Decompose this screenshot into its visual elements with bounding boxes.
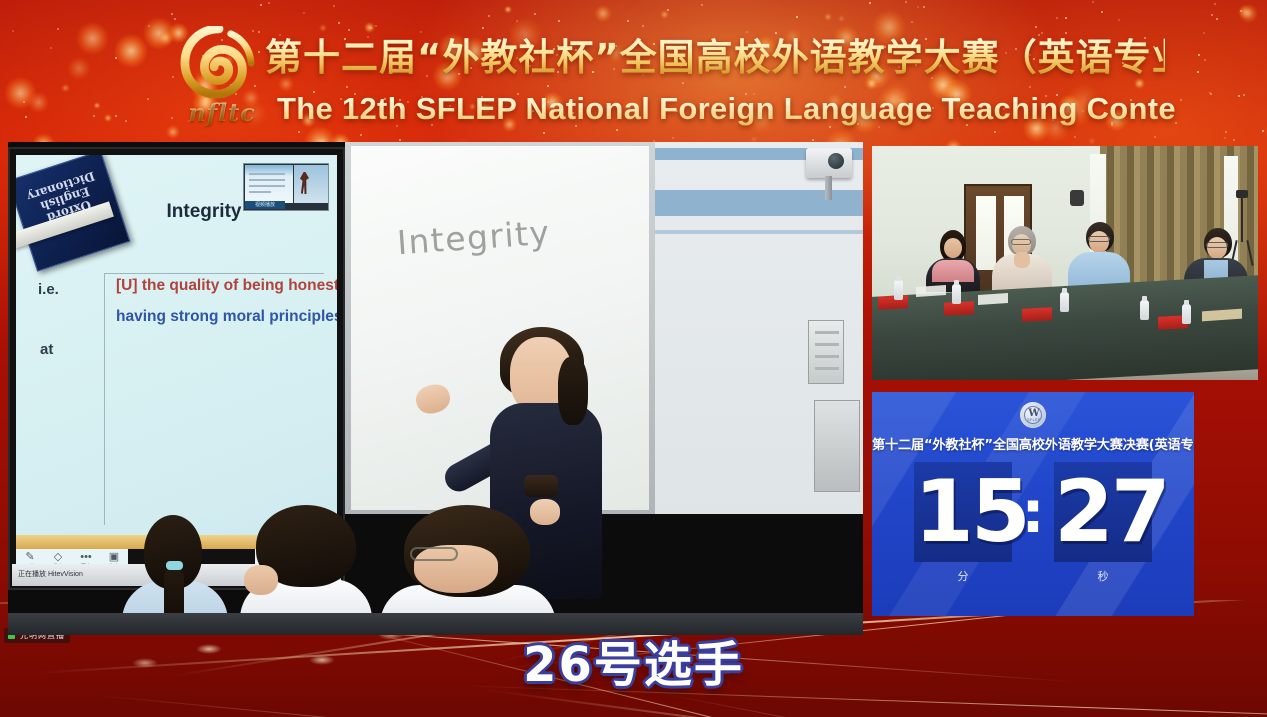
- name-card-1: [878, 295, 908, 310]
- slide-divider-vertical: [104, 273, 105, 525]
- slide-divider-horizontal: [104, 273, 324, 274]
- timer-title: 第十二届“外教社杯”全国高校外语教学大赛决赛(英语专业组）: [872, 434, 1194, 453]
- water-bottle-3: [1060, 292, 1069, 312]
- ceiling-projector-icon: [770, 148, 856, 194]
- desk-surface: [8, 613, 863, 635]
- swirl-spiral-logo-icon: [180, 26, 258, 100]
- whiteboard-handwriting: Integrity: [396, 213, 552, 263]
- podium-computer: [814, 400, 860, 492]
- thumbnail-label: 视频播放: [245, 201, 285, 209]
- water-bottle-2: [952, 284, 961, 304]
- judge-1: [924, 230, 982, 290]
- presentation-clicker: [524, 475, 558, 497]
- minutes-label: 分: [914, 568, 1012, 584]
- contestant-caption: 26号选手: [0, 636, 1267, 694]
- minutes-box: 15: [914, 462, 1012, 562]
- glasses-icon: [1088, 236, 1110, 242]
- name-card-3: [1022, 307, 1052, 322]
- seconds-box: 27: [1054, 462, 1152, 562]
- banner-title-chinese: 第十二届“外教社杯”全国高校外语教学大赛（英语专业组）: [265, 32, 1165, 84]
- minutes-value: 15: [914, 462, 1012, 562]
- judge-3: [1068, 222, 1130, 292]
- main-classroom-video[interactable]: Integrity Oxford English Dictionary Inte…: [8, 142, 863, 635]
- wall-speaker-icon: [1070, 190, 1084, 206]
- judge-2: [992, 226, 1052, 292]
- water-bottle-4: [1140, 300, 1149, 320]
- glasses-icon: [1011, 239, 1031, 245]
- students-foreground: [8, 505, 863, 635]
- glasses-icon: [1206, 242, 1228, 248]
- banner-title-english: The 12th SFLEP National Foreign Language…: [277, 88, 1177, 130]
- emblem-subtext: SFLEP: [1025, 418, 1043, 422]
- wall-control-panel: [808, 320, 844, 384]
- glasses-icon: [410, 547, 458, 561]
- water-bottle-1: [894, 280, 903, 300]
- broadcast-screen: nfltc 第十二届“外教社杯”全国高校外语教学大赛（英语专业组） The 12…: [0, 0, 1267, 717]
- time-separator: :: [1012, 462, 1054, 562]
- slide-definition-line-1: [U] the quality of being honest and: [116, 277, 337, 295]
- event-banner: nfltc 第十二届“外教社杯”全国高校外语教学大赛（英语专业组） The 12…: [0, 0, 1267, 140]
- countdown-timer-panel[interactable]: W SFLEP 第十二届“外教社杯”全国高校外语教学大赛决赛(英语专业组） 15…: [872, 392, 1194, 616]
- water-bottle-5: [1182, 304, 1191, 324]
- judge-papers-2: [978, 293, 1008, 305]
- slide-screen: Oxford English Dictionary Integrity 视频播放…: [16, 155, 337, 535]
- seconds-value: 27: [1054, 462, 1152, 562]
- judge-papers-1: [916, 285, 946, 297]
- nfltc-logo: nfltc: [168, 26, 276, 130]
- seconds-label: 秒: [1054, 568, 1152, 584]
- sflep-emblem-icon: W SFLEP: [1020, 402, 1046, 428]
- judges-panel-video[interactable]: [872, 146, 1258, 380]
- slide-marker-ie: i.e.: [38, 281, 59, 298]
- slide-marker-at: at: [40, 341, 53, 358]
- slide-definition-line-2: having strong moral principles: [116, 308, 337, 326]
- definition-red-text: [U] the quality of being honest: [116, 277, 337, 294]
- logo-wordmark: nfltc: [168, 98, 276, 127]
- slide-video-thumbnail[interactable]: 视频播放: [243, 163, 329, 211]
